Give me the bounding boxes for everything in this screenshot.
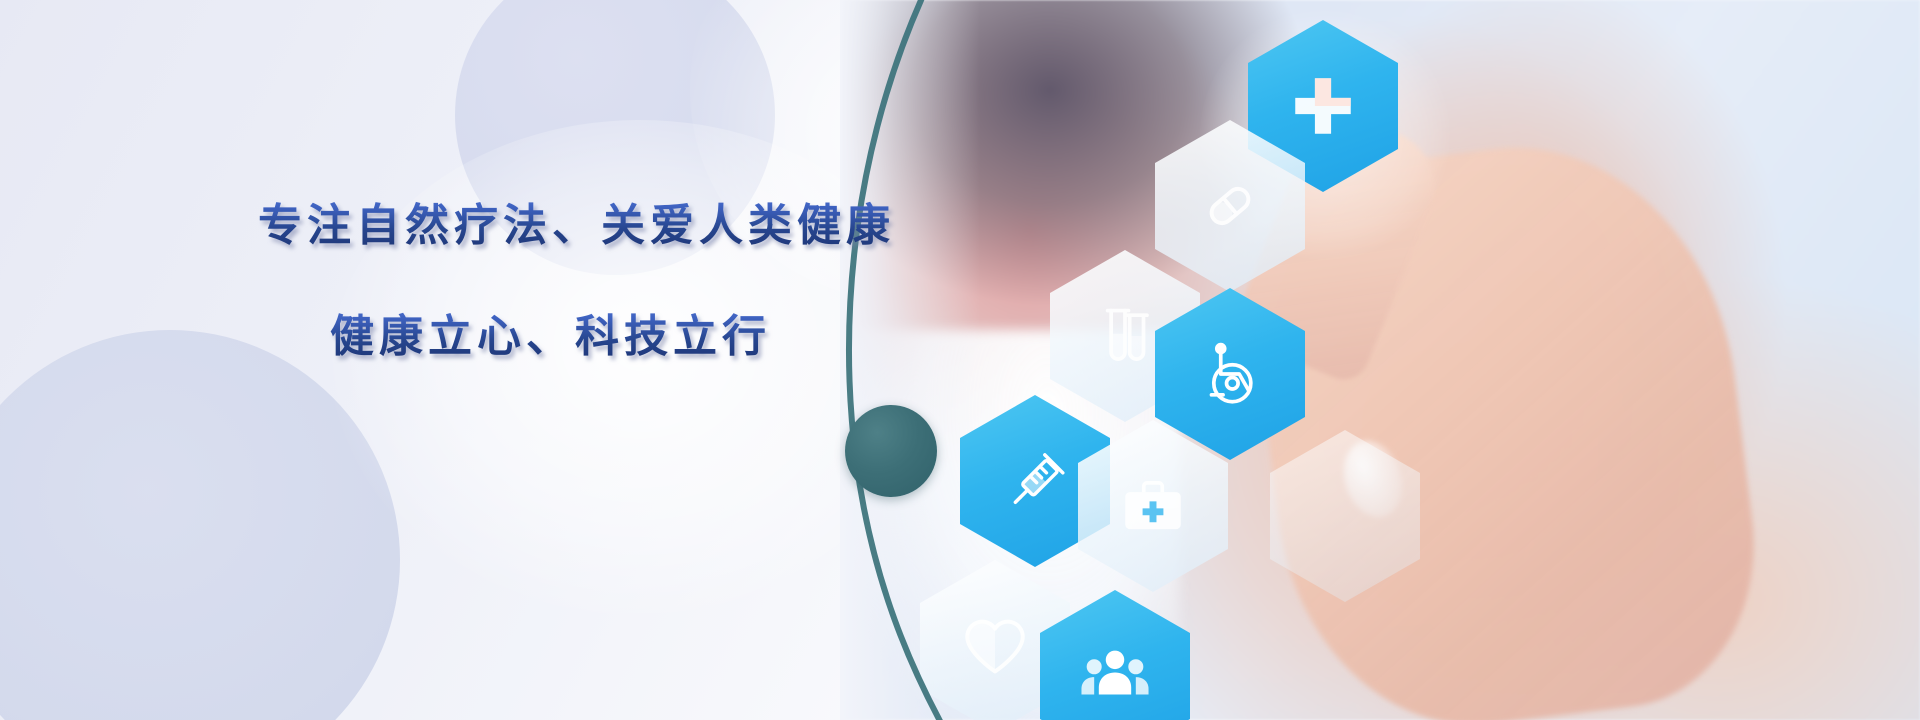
headline-line-1: 专注自然疗法、关爱人类健康 <box>258 189 895 253</box>
wheelchair-icon <box>1193 337 1267 411</box>
hero-banner: 专注自然疗法、关爱人类健康 健康立心、科技立行 <box>0 0 1920 720</box>
medical-cross-icon <box>1286 69 1360 143</box>
headline-line-2: 健康立心、科技立行 <box>330 300 771 364</box>
headline-block: 专注自然疗法、关爱人类健康 健康立心、科技立行 <box>0 0 880 720</box>
pill-capsule-icon <box>1193 169 1267 243</box>
hex-tile-blank <box>1270 430 1420 602</box>
first-aid-kit-icon <box>1116 469 1190 543</box>
